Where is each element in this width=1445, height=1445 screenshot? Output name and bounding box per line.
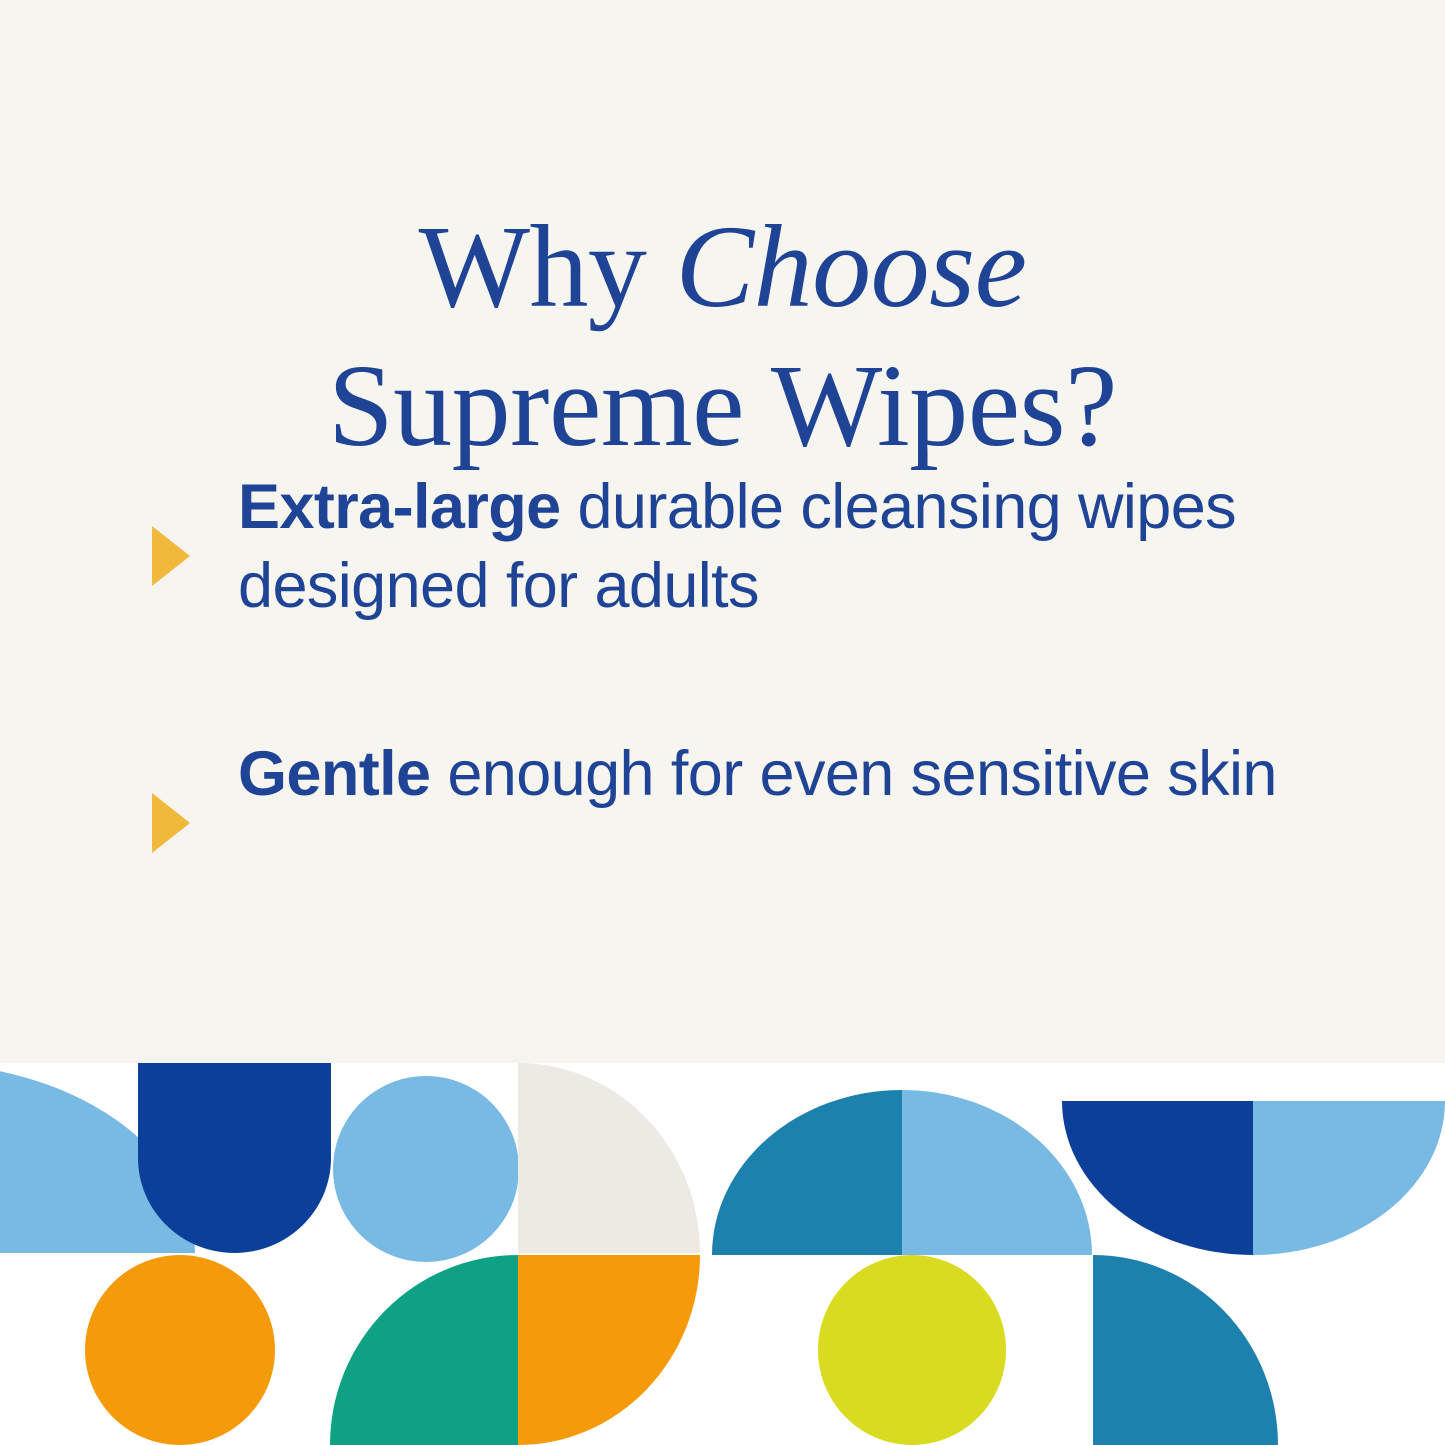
light-blue-circle-small [333,1076,519,1262]
triangle-right-icon [152,793,190,853]
list-item: Gentle enough for even sensitive skin [0,735,1445,853]
green-quarter-disc [330,1255,518,1445]
geometric-brand-pattern [0,1063,1445,1445]
promo-panel: Why Choose Supreme Wipes? Extra-large du… [0,0,1445,1445]
orange-circle [85,1255,275,1445]
orange-quarter-disc [518,1255,700,1445]
page-title: Why Choose Supreme Wipes? [0,197,1445,475]
page-title-line-1: Why Choose [0,197,1445,336]
page-title-emphasis: Choose [675,201,1026,332]
navy-half-disc-right [1062,1101,1253,1255]
list-item: Extra-large durable cleansing wipes desi… [0,468,1445,627]
cream-quarter-disc [518,1063,700,1253]
navy-half-disc [138,1063,331,1253]
teal-quarter-disc-lower [1093,1255,1278,1445]
page-title-prefix: Why [419,201,676,332]
chartreuse-circle [818,1255,1006,1445]
feature-list: Extra-large durable cleansing wipes desi… [0,468,1445,961]
teal-quarter-disc-upper [712,1090,902,1255]
page-title-line-2: Supreme Wipes? [0,336,1445,475]
list-item-text: Extra-large durable cleansing wipes desi… [238,468,1325,627]
triangle-right-icon [152,526,190,586]
list-item-lead: Extra-large [238,472,561,542]
list-item-lead: Gentle [238,739,430,809]
list-item-rest: enough for even sensitive skin [430,739,1276,809]
list-item-text: Gentle enough for even sensitive skin [238,735,1325,814]
light-blue-quarter-disc-right [1253,1101,1445,1255]
